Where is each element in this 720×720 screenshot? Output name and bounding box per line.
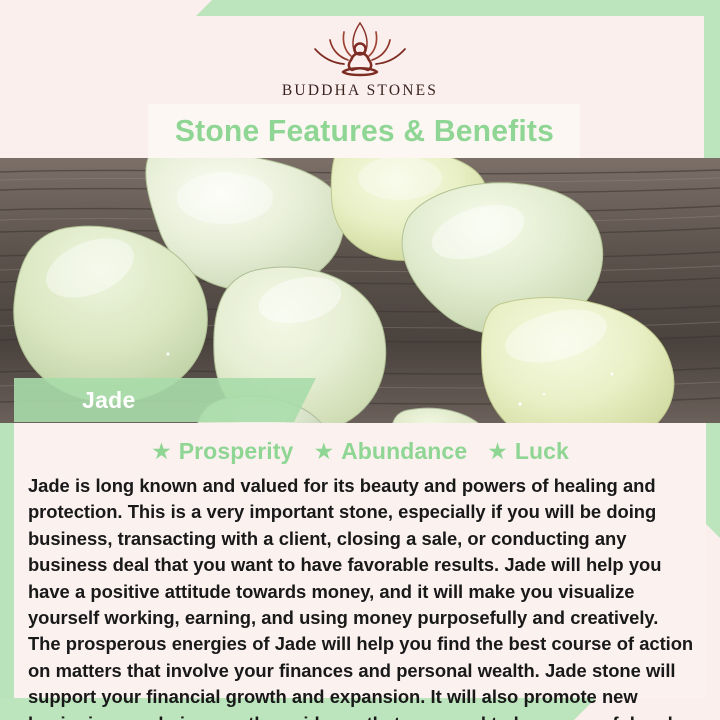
- page-title-band: Stone Features & Benefits: [148, 104, 580, 158]
- star-icon: ★: [487, 440, 508, 463]
- keyword-item-abundance: ★ Abundance: [313, 438, 467, 465]
- stone-name: Jade: [82, 387, 136, 414]
- page-title: Stone Features & Benefits: [174, 113, 553, 149]
- star-icon: ★: [313, 440, 334, 463]
- stone-description: Jade is long known and valued for its be…: [28, 473, 694, 720]
- brand-logo: BUDDHA STONES: [0, 18, 720, 110]
- star-icon: ★: [151, 440, 172, 463]
- brand-name: BUDDHA STONES: [282, 82, 438, 100]
- stone-name-band: Jade: [14, 378, 316, 422]
- keyword-item-prosperity: ★ Prosperity: [151, 438, 293, 465]
- lotus-meditation-icon: [301, 18, 419, 80]
- content-panel: ★ Prosperity ★ Abundance ★ Luck Jade is …: [14, 423, 706, 698]
- keyword-label: Abundance: [341, 438, 467, 465]
- keyword-list: ★ Prosperity ★ Abundance ★ Luck: [14, 423, 706, 470]
- stone-info-card: BUDDHA STONES Stone Features & Benefits: [0, 0, 720, 720]
- keyword-label: Luck: [515, 438, 569, 465]
- frame-top-accent: [196, 0, 720, 16]
- keyword-label: Prosperity: [179, 438, 294, 465]
- keyword-item-luck: ★ Luck: [487, 438, 569, 465]
